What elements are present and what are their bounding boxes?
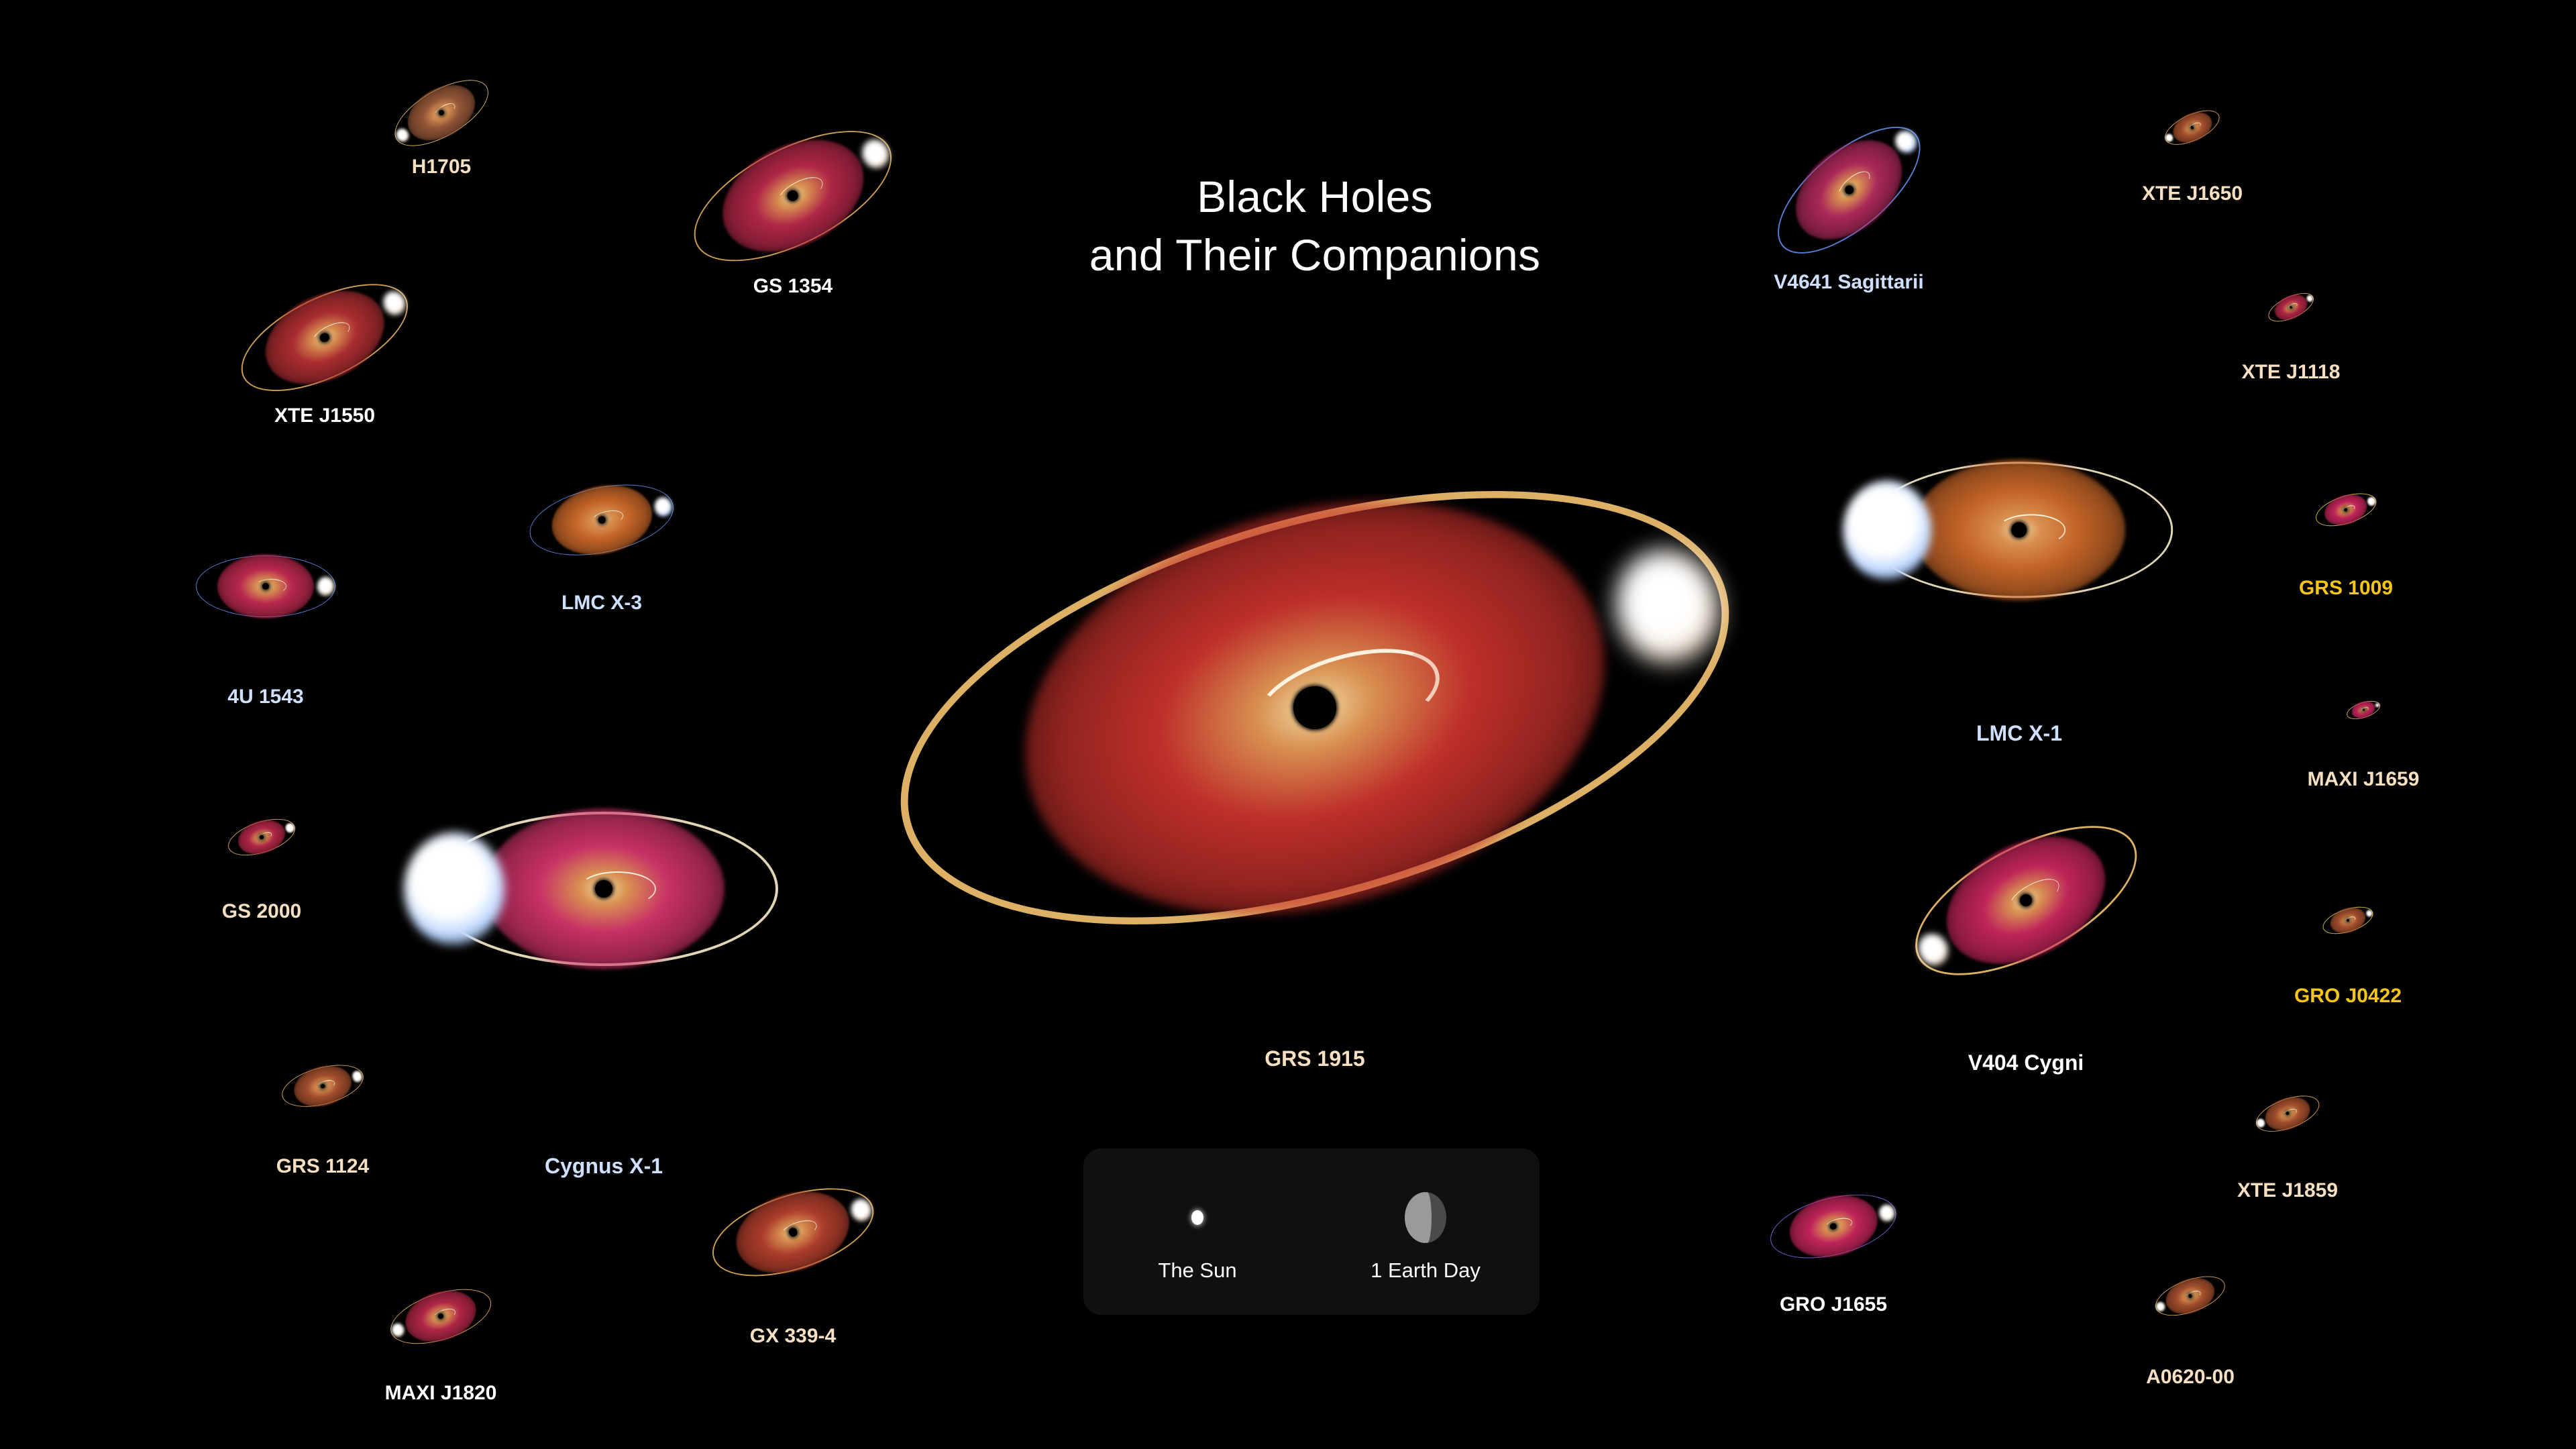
system-artwork <box>225 260 425 415</box>
page-title: Black Holes and Their Companions <box>1033 168 1597 284</box>
system-label-xte_j1859: XTE J1859 <box>2237 1179 2338 1202</box>
system-artwork <box>2312 486 2380 533</box>
system-artwork <box>1756 103 1941 276</box>
legend-item-sun: The Sun <box>1083 1148 1311 1315</box>
system-artwork <box>1866 459 2173 600</box>
system-label-gs2000: GS 2000 <box>222 900 301 923</box>
companion-star <box>404 833 504 945</box>
system-label-grs1915: GRS 1915 <box>1265 1046 1364 1071</box>
system-label-gs1354: GS 1354 <box>753 275 833 298</box>
system-artwork <box>196 554 335 619</box>
system-artwork <box>2251 1088 2324 1140</box>
title-line-1: Black Holes <box>1033 168 1597 226</box>
system-artwork <box>850 400 1780 1015</box>
system-label-a0620_00: A0620-00 <box>2146 1366 2235 1389</box>
system-label-v404_cygni: V404 Cygni <box>1968 1051 2084 1075</box>
scale-legend: The Sun 1 Earth Day <box>1083 1148 1540 1315</box>
system-artwork <box>429 808 778 969</box>
system-label-cygnus_x1: Cygnus X-1 <box>545 1154 663 1179</box>
system-label-gro_j0422: GRO J0422 <box>2294 985 2402 1008</box>
title-line-2: and Their Companions <box>1033 226 1597 284</box>
system-artwork <box>384 66 498 160</box>
sun-dot-icon <box>1191 1181 1203 1254</box>
black-hole <box>595 880 612 898</box>
earth-day-icon <box>1405 1181 1446 1254</box>
system-artwork <box>523 472 681 568</box>
system-artwork <box>2150 1268 2231 1325</box>
legend-item-earth-day: 1 Earth Day <box>1311 1148 1540 1315</box>
system-artwork <box>2264 286 2318 327</box>
system-label-gx339_4: GX 339-4 <box>750 1325 836 1348</box>
system-artwork <box>674 103 912 290</box>
inner-accretion-ring <box>579 871 656 907</box>
system-label-xte_j1650: XTE J1650 <box>2142 182 2243 205</box>
system-artwork <box>384 1277 498 1356</box>
system-artwork <box>223 811 300 863</box>
system-label-maxi_j1820: MAXI J1820 <box>385 1382 497 1405</box>
system-artwork <box>2159 103 2224 152</box>
system-label-gro_j1655: GRO J1655 <box>1780 1293 1887 1316</box>
starfield-canvas: Black Holes and Their Companions H1705GS… <box>0 0 2576 1449</box>
legend-label-sun: The Sun <box>1158 1258 1236 1283</box>
system-artwork <box>277 1057 368 1116</box>
system-artwork <box>2345 697 2383 723</box>
system-artwork <box>702 1170 885 1295</box>
legend-label-earth-day: 1 Earth Day <box>1371 1258 1481 1283</box>
system-artwork <box>1764 1182 1903 1271</box>
system-label-xte_j1118: XTE J1118 <box>2242 361 2341 384</box>
system-label-v4641_sgr: V4641 Sagittarii <box>1774 271 1923 294</box>
system-label-4u1543: 4U 1543 <box>227 686 303 708</box>
system-artwork <box>1892 793 2160 1007</box>
companion-star <box>317 577 334 596</box>
inner-accretion-ring <box>1998 515 2065 545</box>
inner-accretion-ring <box>256 579 286 593</box>
system-label-h1705: H1705 <box>412 156 471 178</box>
system-label-lmc_x3: LMC X-3 <box>561 592 642 614</box>
system-label-grs1009: GRS 1009 <box>2299 577 2393 600</box>
system-artwork <box>2319 901 2376 940</box>
system-label-xte_j1550: XTE J1550 <box>274 405 375 427</box>
system-label-maxi_j1659: MAXI J1659 <box>2308 768 2420 791</box>
system-label-grs1124: GRS 1124 <box>276 1155 369 1178</box>
companion-star <box>1843 480 1932 580</box>
system-label-lmc_x1: LMC X-1 <box>1976 721 2062 746</box>
